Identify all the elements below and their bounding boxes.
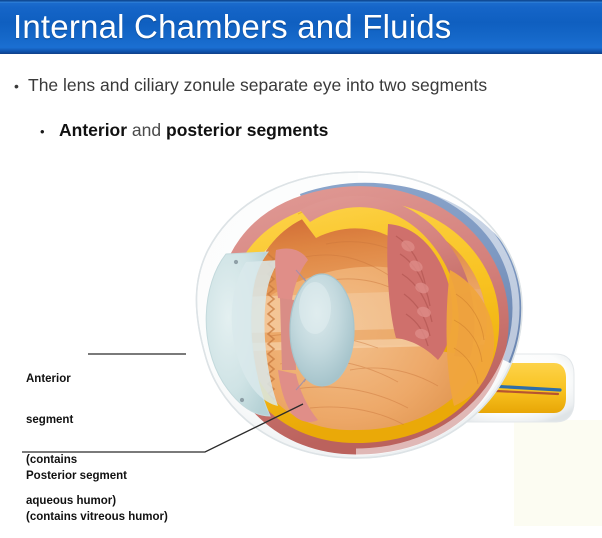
bullet-level-2-bold-posterior: posterior segments xyxy=(166,120,328,140)
callout-posterior-line-1: Posterior segment xyxy=(26,470,168,484)
callout-anterior-line-2: segment xyxy=(26,414,116,428)
callout-posterior-line-2: (contains vitreous humor) xyxy=(26,511,168,525)
bullet-level-1: • The lens and ciliary zonule separate e… xyxy=(14,74,594,97)
page-title: Internal Chambers and Fluids xyxy=(13,3,451,51)
callout-posterior-segment: Posterior segment (contains vitreous hum… xyxy=(26,443,168,538)
callout-anterior-line-1: Anterior xyxy=(26,373,116,387)
bullet-level-2: • Anterior and posterior segments xyxy=(40,119,580,143)
sub-bullet-marker-icon: • xyxy=(40,121,59,143)
eye-cross-section-figure xyxy=(150,158,580,488)
bullet-level-1-text: The lens and ciliary zonule separate eye… xyxy=(28,74,487,96)
bullet-level-2-bold-anterior: Anterior xyxy=(59,120,127,140)
bullet-level-2-conjunction: and xyxy=(127,120,166,140)
slide-title-bar: Internal Chambers and Fluids xyxy=(0,0,602,54)
bullet-level-2-text: Anterior and posterior segments xyxy=(59,119,328,141)
bullet-marker-icon: • xyxy=(14,75,28,97)
